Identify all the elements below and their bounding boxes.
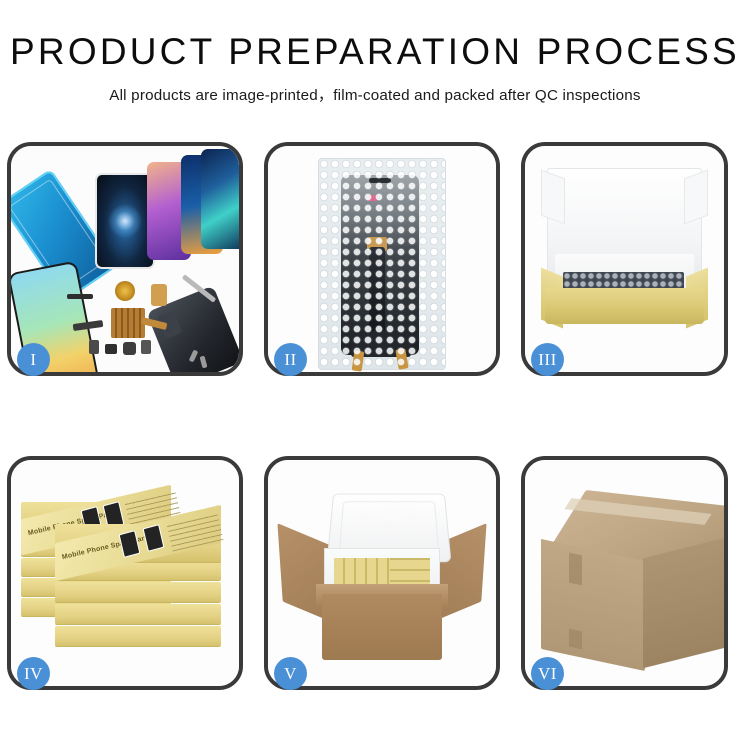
carton-seam-upper (569, 553, 582, 586)
product-preparation-infographic: PRODUCT PREPARATION PROCESS All products… (0, 0, 750, 750)
step-2-image (268, 146, 496, 372)
open-box-group (541, 168, 708, 338)
small-part-3 (123, 342, 136, 355)
box-tray-front (545, 288, 704, 324)
step-panel-2[interactable]: II (264, 142, 500, 376)
open-carton-group (282, 484, 482, 660)
step-5-image (268, 460, 496, 686)
steps-grid: I II (7, 142, 723, 690)
step-panel-3[interactable]: III (521, 142, 728, 376)
step-panel-4[interactable]: Mobile Phone Spare Parts Mobile Phone Sp… (7, 456, 243, 690)
tempered-glass-screen (95, 173, 155, 269)
lcd-pink-tab (367, 195, 377, 201)
spare-parts-cluster (79, 278, 201, 372)
step-panel-5[interactable]: V (264, 456, 500, 690)
box-lid-flap-left (541, 170, 565, 225)
carton-body (322, 594, 442, 660)
step-badge-2: II (274, 343, 307, 376)
step-badge-3: III (531, 343, 564, 376)
lcd-flex-cable (369, 247, 385, 333)
retail-box-r3 (55, 582, 221, 602)
lcd-screen-assembly (341, 175, 419, 355)
header: PRODUCT PREPARATION PROCESS All products… (0, 0, 750, 105)
bubble-wrap-bag (318, 158, 446, 370)
step-badge-1: I (17, 343, 50, 376)
step-3-image (525, 146, 724, 372)
retail-box-stack: Mobile Phone Spare Parts Mobile Phone Sp… (21, 486, 227, 672)
step-badge-6: VI (531, 657, 564, 690)
earpiece-mesh-part (67, 294, 93, 299)
page-subtitle: All products are image-printed，film-coat… (0, 83, 750, 105)
small-part-2 (105, 344, 117, 354)
step-badge-4: IV (17, 657, 50, 690)
box-lid-flap-right (684, 170, 708, 225)
flex-cable-c (151, 284, 167, 306)
page-title: PRODUCT PREPARATION PROCESS (0, 33, 750, 70)
small-part-1 (89, 340, 99, 354)
carton-seam-lower (569, 629, 582, 650)
retail-box-r1: Mobile Phone Spare Parts (55, 524, 221, 562)
sealed-carton-group (539, 490, 712, 660)
carton-side-face (643, 538, 724, 668)
screw-1 (189, 350, 199, 363)
small-part-4 (141, 340, 151, 354)
lcd-gold-contact-left (352, 350, 365, 371)
phone-wave-wallpaper (201, 149, 239, 249)
step-1-image (11, 146, 239, 372)
retail-box-r4 (55, 604, 221, 624)
retail-box-r5 (55, 626, 221, 646)
step-badge-5: V (274, 657, 307, 690)
step-4-image: Mobile Phone Spare Parts Mobile Phone Sp… (11, 460, 239, 686)
step-panel-1[interactable]: I (7, 142, 243, 376)
step-6-image (525, 460, 724, 686)
step-panel-6[interactable]: VI (521, 456, 728, 690)
carton-front-face (541, 539, 645, 671)
speaker-coil-part (115, 281, 135, 301)
